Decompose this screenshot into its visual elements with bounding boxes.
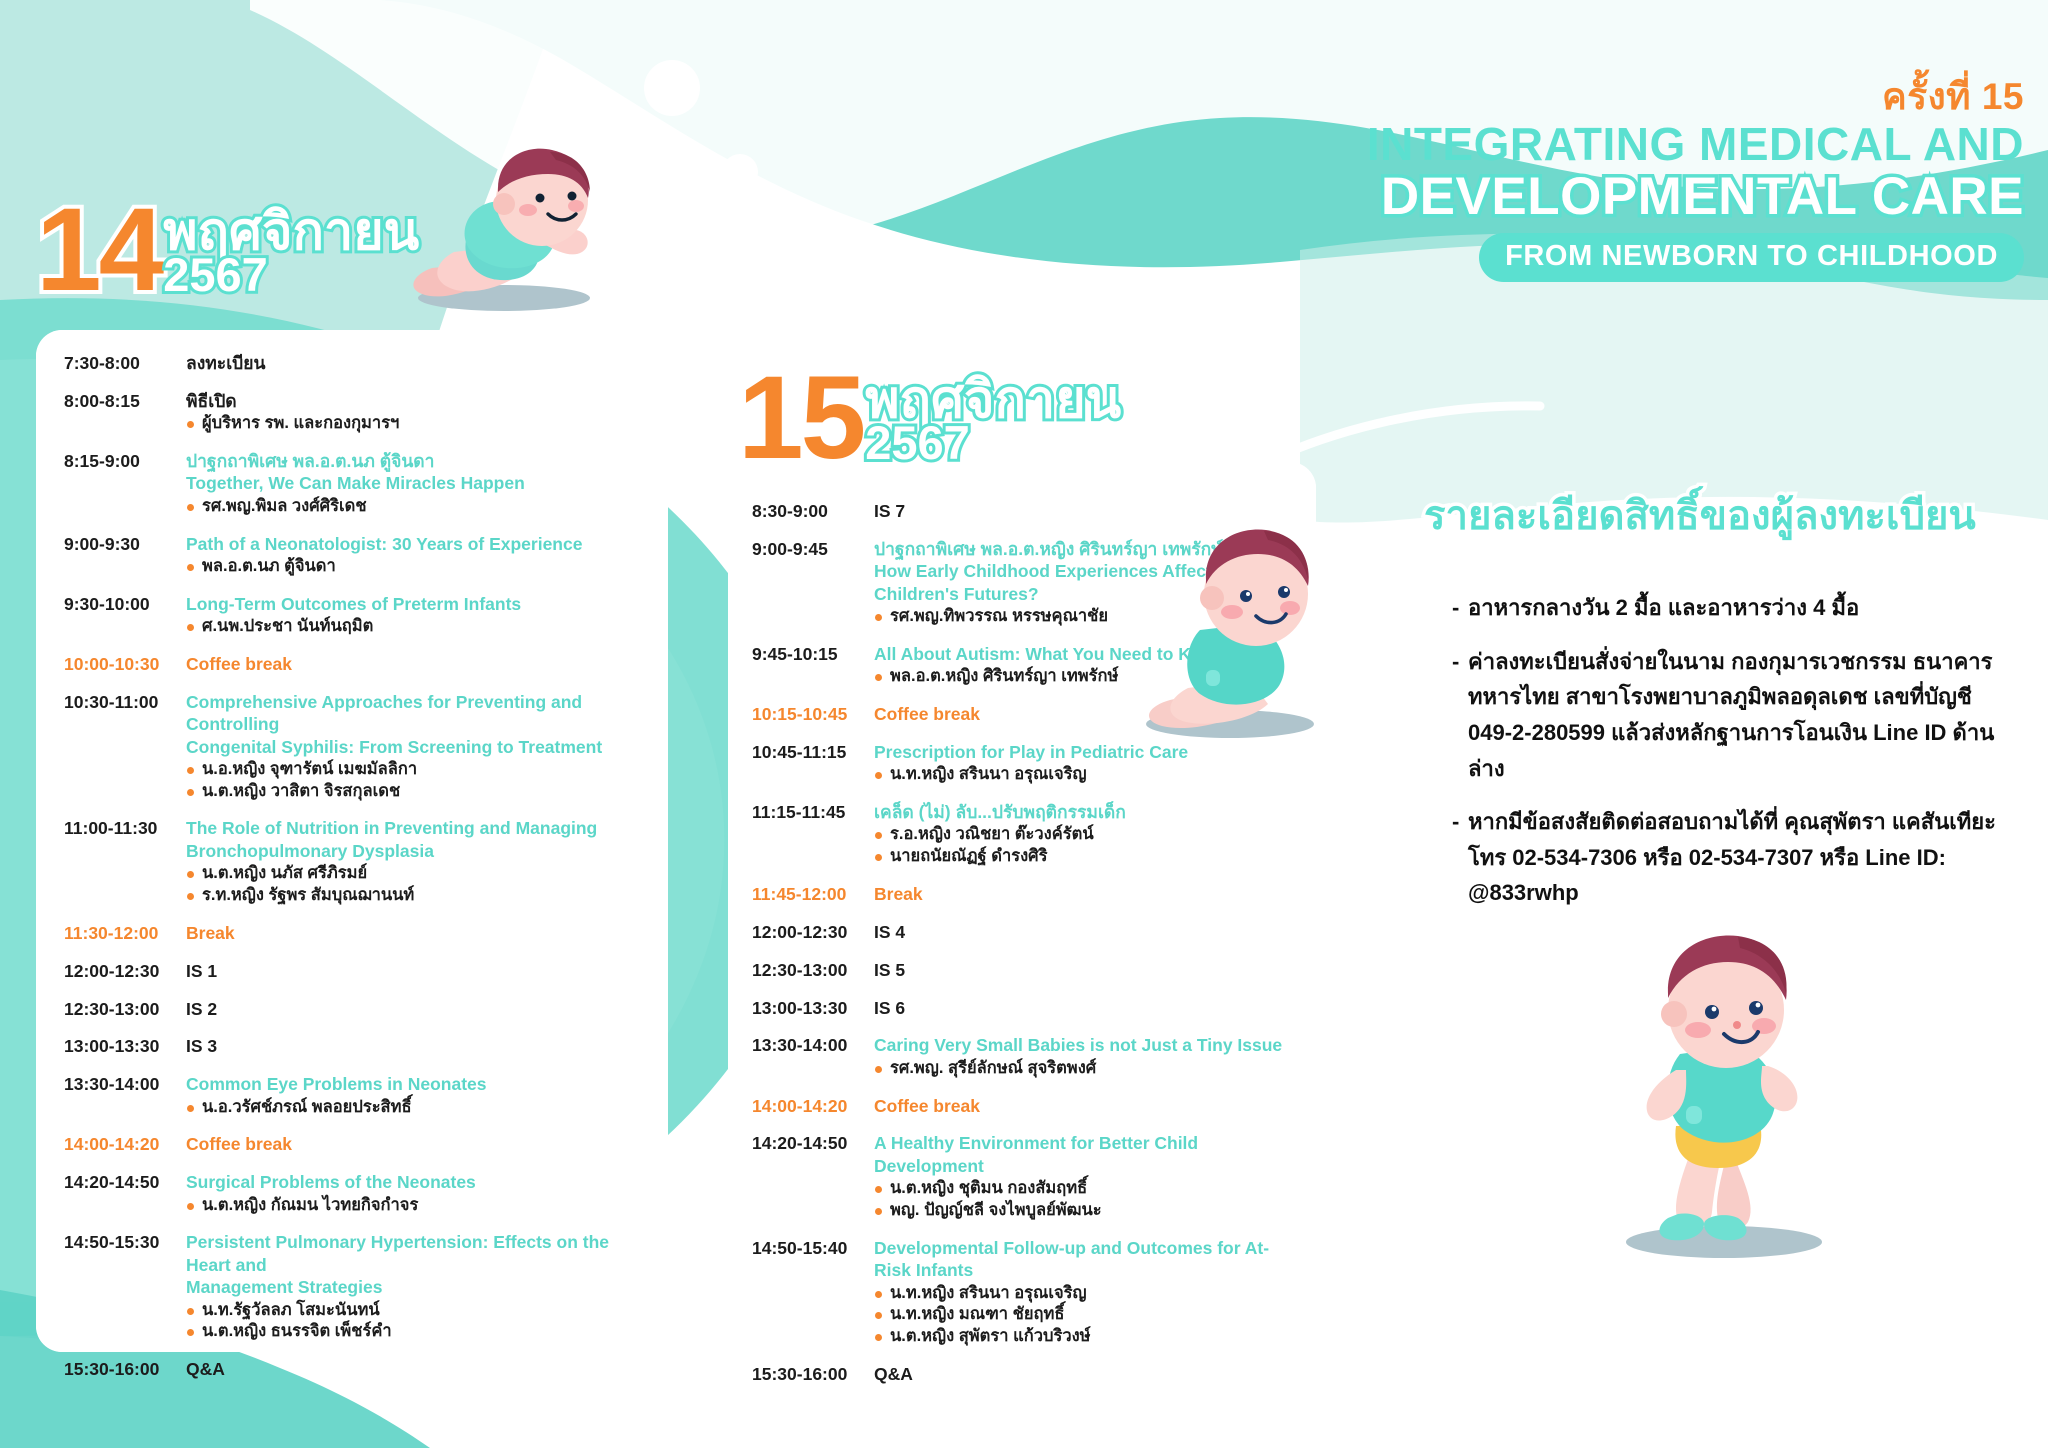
agenda-speaker: นายถนัยณัฏฐ์ ดำรงศิริ: [874, 846, 1292, 868]
agenda-row-body: IS 2: [186, 998, 644, 1021]
agenda-row-body: IS 3: [186, 1035, 644, 1058]
registration-info-item: -ค่าลงทะเบียนสั่งจ่ายในนาม กองกุมารเวชกร…: [1452, 644, 2000, 787]
agenda-row-title: Persistent Pulmonary Hypertension: Effec…: [186, 1231, 644, 1276]
agenda-row: 11:15-11:45เคล็ด (ไม่) ลับ...ปรับพฤติกรร…: [752, 801, 1292, 868]
bullet-dash-icon: -: [1452, 804, 1468, 911]
agenda-speaker: พญ. ปัญญ์ชลี จงไพบูลย์พัฒนะ: [874, 1200, 1292, 1222]
agenda-row: 10:00-10:30Coffee break: [64, 653, 644, 676]
conference-subtitle: FROM NEWBORN TO CHILDHOOD: [1479, 233, 2024, 282]
agenda-row: 14:00-14:20Coffee break: [752, 1095, 1292, 1118]
agenda-row-title: IS 2: [186, 998, 644, 1020]
bullet-dash-icon: -: [1452, 644, 1468, 787]
agenda-row-time: 12:30-13:00: [64, 998, 186, 1021]
agenda-row-body: Q&A: [186, 1358, 644, 1381]
agenda-speaker: ร.อ.หญิง วณิชยา ต๊ะวงค์รัตน์: [874, 824, 1292, 846]
agenda-row: 10:30-11:00Comprehensive Approaches for …: [64, 691, 644, 803]
agenda-speaker: น.ท.หญิง สรินนา อรุณเจริญ: [874, 1283, 1292, 1305]
agenda-row-body: Break: [186, 922, 644, 945]
agenda-row-body: Q&A: [874, 1363, 1292, 1386]
agenda-speaker-list: น.ท.หญิง สรินนา อรุณเจริญ: [874, 764, 1292, 786]
agenda-row-title: Coffee break: [186, 1133, 644, 1155]
agenda-row-title: พิธีเปิด: [186, 390, 644, 412]
agenda-row-time: 10:30-11:00: [64, 691, 186, 803]
agenda-row-time: 7:30-8:00: [64, 352, 186, 375]
agenda-row-time: 9:45-10:15: [752, 643, 874, 688]
agenda-row-title: IS 4: [874, 921, 1292, 943]
agenda-speaker: น.ท.หญิง มณฑา ชัยฤทธิ์: [874, 1304, 1292, 1326]
agenda-row-time: 14:20-14:50: [64, 1171, 186, 1216]
agenda-row-time: 12:30-13:00: [752, 959, 874, 982]
day-15-number: 15: [738, 368, 863, 469]
agenda-speaker: น.ท.หญิง สรินนา อรุณเจริญ: [874, 764, 1292, 786]
agenda-speaker-list: น.ต.หญิง ชุติมน กองสัมฤทธิ์พญ. ปัญญ์ชลี …: [874, 1178, 1292, 1222]
day-15-date-heading: 15 พฤศจิกายน 2567: [738, 368, 1121, 469]
agenda-row: 11:00-11:30The Role of Nutrition in Prev…: [64, 817, 644, 906]
agenda-row-title: Common Eye Problems in Neonates: [186, 1073, 644, 1095]
agenda-row-time: 11:15-11:45: [752, 801, 874, 868]
agenda-row-body: Path of a Neonatologist: 30 Years of Exp…: [186, 533, 644, 578]
agenda-row-body: Caring Very Small Babies is not Just a T…: [874, 1034, 1292, 1079]
agenda-row-body: A Healthy Environment for Better Child D…: [874, 1132, 1292, 1221]
agenda-row: 13:30-14:00Common Eye Problems in Neonat…: [64, 1073, 644, 1118]
agenda-row: 8:15-9:00ปาฐกถาพิเศษ พล.อ.ต.นภ ตู้จินดาT…: [64, 450, 644, 518]
agenda-speaker-list: น.อ.วรัศช์ภรณ์ พลอยประสิทธิ์: [186, 1097, 644, 1119]
agenda-speaker: ศ.นพ.ประชา นันท์นฤมิต: [186, 616, 644, 638]
agenda-row-title: IS 1: [186, 960, 644, 982]
agenda-row-body: Common Eye Problems in Neonatesน.อ.วรัศช…: [186, 1073, 644, 1118]
agenda-row-title: Break: [186, 922, 644, 944]
agenda-speaker-list: รศ.พญ. สุรีย์ลักษณ์ สุจริตพงศ์: [874, 1058, 1292, 1080]
agenda-row-title: Caring Very Small Babies is not Just a T…: [874, 1034, 1292, 1056]
agenda-row-time: 11:00-11:30: [64, 817, 186, 906]
agenda-row-body: IS 1: [186, 960, 644, 983]
agenda-speaker: น.ต.หญิง นภัส ศรีภิรมย์: [186, 863, 644, 885]
agenda-speaker-list: ศ.นพ.ประชา นันท์นฤมิต: [186, 616, 644, 638]
agenda-row: 9:00-9:30Path of a Neonatologist: 30 Yea…: [64, 533, 644, 578]
agenda-row-time: 8:30-9:00: [752, 500, 874, 523]
agenda-speaker-list: น.ต.หญิง นภัส ศรีภิรมย์ร.ท.หญิง รัฐพร สั…: [186, 863, 644, 907]
agenda-row: 12:30-13:00IS 2: [64, 998, 644, 1021]
agenda-speaker: ผู้บริหาร รพ. และกองกุมารฯ: [186, 413, 644, 435]
agenda-row-body: Comprehensive Approaches for Preventing …: [186, 691, 644, 803]
agenda-row-title: Comprehensive Approaches for Preventing …: [186, 691, 644, 736]
agenda-row-body: Persistent Pulmonary Hypertension: Effec…: [186, 1231, 644, 1343]
agenda-row: 15:30-16:00Q&A: [64, 1358, 644, 1381]
agenda-speaker: น.อ.หญิง จุฑารัตน์ เมฆมัลลิกา: [186, 759, 644, 781]
agenda-row-body: IS 6: [874, 997, 1292, 1020]
agenda-speaker: น.อ.วรัศช์ภรณ์ พลอยประสิทธิ์: [186, 1097, 644, 1119]
agenda-row-title: ลงทะเบียน: [186, 352, 644, 374]
agenda-row: 13:00-13:30IS 6: [752, 997, 1292, 1020]
agenda-row-body: Break: [874, 883, 1292, 906]
agenda-row: 14:20-14:50Surgical Problems of the Neon…: [64, 1171, 644, 1216]
registration-info-text: หากมีข้อสงสัยติดต่อสอบถามได้ที่ คุณสุพัต…: [1468, 804, 2000, 911]
agenda-row: 14:00-14:20Coffee break: [64, 1133, 644, 1156]
agenda-row-body: ลงทะเบียน: [186, 352, 644, 375]
agenda-row-time: 14:00-14:20: [64, 1133, 186, 1156]
agenda-row: 14:20-14:50A Healthy Environment for Bet…: [752, 1132, 1292, 1221]
agenda-row-body: พิธีเปิดผู้บริหาร รพ. และกองกุมารฯ: [186, 390, 644, 435]
agenda-speaker: รศ.พญ. สุรีย์ลักษณ์ สุจริตพงศ์: [874, 1058, 1292, 1080]
agenda-speaker: น.ต.หญิง วาสิตา จิรสกุลเดช: [186, 781, 644, 803]
registration-info-item: -อาหารกลางวัน 2 มื้อ และอาหารว่าง 4 มื้อ: [1452, 590, 2000, 626]
agenda-row: 15:30-16:00Q&A: [752, 1363, 1292, 1386]
agenda-row-title: Break: [874, 883, 1292, 905]
agenda-row-body: Coffee break: [186, 653, 644, 676]
agenda-speaker-list: น.อ.หญิง จุฑารัตน์ เมฆมัลลิกาน.ต.หญิง วา…: [186, 759, 644, 803]
agenda-row: 12:30-13:00IS 5: [752, 959, 1292, 982]
agenda-row-title: Coffee break: [874, 1095, 1292, 1117]
agenda-row: 11:45-12:00Break: [752, 883, 1292, 906]
agenda-row-title: Q&A: [186, 1358, 644, 1380]
agenda-row-body: Surgical Problems of the Neonatesน.ต.หญิ…: [186, 1171, 644, 1216]
day-14-date-heading: 14 พฤศจิกายน 2567: [36, 200, 419, 301]
agenda-row-time: 10:15-10:45: [752, 703, 874, 726]
day-14-agenda-list: 7:30-8:00ลงทะเบียน8:00-8:15พิธีเปิดผู้บร…: [64, 352, 644, 1396]
conference-title-line-1: INTEGRATING MEDICAL AND: [1344, 121, 2024, 168]
agenda-speaker: น.ต.หญิง กัณมน ไวทยกิจกำจร: [186, 1195, 644, 1217]
agenda-speaker: รศ.พญ.พิมล วงศ์ศิริเดช: [186, 496, 644, 518]
agenda-row-title: Surgical Problems of the Neonates: [186, 1171, 644, 1193]
agenda-row-body: Prescription for Play in Pediatric Careน…: [874, 741, 1292, 786]
agenda-row: 9:30-10:00Long-Term Outcomes of Preterm …: [64, 593, 644, 638]
agenda-row-body: IS 5: [874, 959, 1292, 982]
agenda-row: 7:30-8:00ลงทะเบียน: [64, 352, 644, 375]
agenda-row-time: 15:30-16:00: [752, 1363, 874, 1386]
agenda-row-body: Developmental Follow-up and Outcomes for…: [874, 1237, 1292, 1348]
agenda-row-title: Q&A: [874, 1363, 1292, 1385]
agenda-speaker-list: น.ท.หญิง สรินนา อรุณเจริญน.ท.หญิง มณฑา ช…: [874, 1283, 1292, 1348]
agenda-speaker: น.ต.หญิง ชุติมน กองสัมฤทธิ์: [874, 1178, 1292, 1200]
agenda-row-body: ปาฐกถาพิเศษ พล.อ.ต.นภ ตู้จินดาTogether, …: [186, 450, 644, 518]
agenda-row: 11:30-12:00Break: [64, 922, 644, 945]
registration-info-text: ค่าลงทะเบียนสั่งจ่ายในนาม กองกุมารเวชกรร…: [1468, 644, 2000, 787]
agenda-row-body: เคล็ด (ไม่) ลับ...ปรับพฤติกรรมเด็กร.อ.หญ…: [874, 801, 1292, 868]
agenda-row-time: 9:00-9:30: [64, 533, 186, 578]
agenda-row-time: 8:00-8:15: [64, 390, 186, 435]
agenda-speaker-list: น.ท.รัฐวัลลภ โสมะนันทน์น.ต.หญิง ธนรรจิต …: [186, 1300, 644, 1344]
agenda-speaker: ร.ท.หญิง รัฐพร สัมบุณฌานนท์: [186, 885, 644, 907]
agenda-speaker: น.ท.รัฐวัลลภ โสมะนันทน์: [186, 1300, 644, 1322]
agenda-row-title: The Role of Nutrition in Preventing and …: [186, 817, 644, 839]
day-14-number: 14: [36, 200, 161, 301]
agenda-row-body: Coffee break: [186, 1133, 644, 1156]
agenda-row-title: Prescription for Play in Pediatric Care: [874, 741, 1292, 763]
agenda-row-title: IS 6: [874, 997, 1292, 1019]
agenda-row: 12:00-12:30IS 1: [64, 960, 644, 983]
agenda-row-title-secondary: Management Strategies: [186, 1276, 644, 1298]
agenda-row-body: Coffee break: [874, 1095, 1292, 1118]
agenda-row-time: 14:50-15:40: [752, 1237, 874, 1348]
agenda-row-body: Long-Term Outcomes of Preterm Infantsศ.น…: [186, 593, 644, 638]
registration-info-list: -อาหารกลางวัน 2 มื้อ และอาหารว่าง 4 มื้อ…: [1452, 590, 2000, 929]
agenda-row-time: 8:15-9:00: [64, 450, 186, 518]
agenda-row: 12:00-12:30IS 4: [752, 921, 1292, 944]
agenda-row: 13:30-14:00Caring Very Small Babies is n…: [752, 1034, 1292, 1079]
agenda-row-time: 9:30-10:00: [64, 593, 186, 638]
agenda-row-title: เคล็ด (ไม่) ลับ...ปรับพฤติกรรมเด็ก: [874, 801, 1292, 823]
agenda-speaker-list: พล.อ.ต.นภ ตู้จินดา: [186, 556, 644, 578]
crawling-baby-illustration: [392, 148, 612, 313]
registration-info-heading: รายละเอียดสิทธิ์ของผู้ลงทะเบียน: [1424, 495, 2024, 537]
agenda-speaker-list: ร.อ.หญิง วณิชยา ต๊ะวงค์รัตน์นายถนัยณัฏฐ์…: [874, 824, 1292, 868]
issue-number: ครั้งที่ 15: [1344, 78, 2024, 115]
agenda-row-title: ปาฐกถาพิเศษ พล.อ.ต.นภ ตู้จินดา: [186, 450, 644, 472]
agenda-row-title: Path of a Neonatologist: 30 Years of Exp…: [186, 533, 644, 555]
agenda-row-title: Coffee break: [186, 653, 644, 675]
agenda-row: 14:50-15:30Persistent Pulmonary Hyperten…: [64, 1231, 644, 1343]
registration-info-text: อาหารกลางวัน 2 มื้อ และอาหารว่าง 4 มื้อ: [1468, 590, 2000, 626]
agenda-row-time: 13:30-14:00: [752, 1034, 874, 1079]
agenda-row-time: 14:20-14:50: [752, 1132, 874, 1221]
agenda-row-time: 13:00-13:30: [752, 997, 874, 1020]
agenda-row: 10:45-11:15Prescription for Play in Pedi…: [752, 741, 1292, 786]
agenda-row-time: 14:00-14:20: [752, 1095, 874, 1118]
agenda-row-time: 14:50-15:30: [64, 1231, 186, 1343]
agenda-row-time: 13:00-13:30: [64, 1035, 186, 1058]
agenda-speaker: น.ต.หญิง สุพัตรา แก้วบริวงษ์: [874, 1326, 1292, 1348]
agenda-speaker-list: ผู้บริหาร รพ. และกองกุมารฯ: [186, 413, 644, 435]
agenda-row-time: 15:30-16:00: [64, 1358, 186, 1381]
agenda-row-time: 13:30-14:00: [64, 1073, 186, 1118]
agenda-row-title: IS 5: [874, 959, 1292, 981]
registration-info-item: -หากมีข้อสงสัยติดต่อสอบถามได้ที่ คุณสุพั…: [1452, 804, 2000, 911]
agenda-row-title: Developmental Follow-up and Outcomes for…: [874, 1237, 1292, 1282]
agenda-row: 13:00-13:30IS 3: [64, 1035, 644, 1058]
poster-header: ครั้งที่ 15 INTEGRATING MEDICAL AND DEVE…: [1344, 78, 2024, 282]
agenda-row-time: 9:00-9:45: [752, 538, 874, 628]
agenda-row-title: IS 3: [186, 1035, 644, 1057]
agenda-speaker: พล.อ.ต.นภ ตู้จินดา: [186, 556, 644, 578]
agenda-row-body: IS 4: [874, 921, 1292, 944]
conference-title-line-2: DEVELOPMENTAL CARE: [1344, 170, 2024, 224]
agenda-speaker: น.ต.หญิง ธนรรจิต เพ็ชร์คำ: [186, 1321, 644, 1343]
agenda-row-time: 10:00-10:30: [64, 653, 186, 676]
agenda-row-body: The Role of Nutrition in Preventing and …: [186, 817, 644, 906]
walking-toddler-illustration: [1598, 930, 1848, 1260]
agenda-row-title: A Healthy Environment for Better Child D…: [874, 1132, 1292, 1177]
pointing-toddler-illustration: [1128, 520, 1328, 740]
agenda-row-time: 12:00-12:30: [64, 960, 186, 983]
agenda-row-time: 11:30-12:00: [64, 922, 186, 945]
agenda-row: 14:50-15:40Developmental Follow-up and O…: [752, 1237, 1292, 1348]
agenda-row-title-secondary: Congenital Syphilis: From Screening to T…: [186, 736, 644, 758]
agenda-row-time: 10:45-11:15: [752, 741, 874, 786]
agenda-row-time: 11:45-12:00: [752, 883, 874, 906]
agenda-row-title: Long-Term Outcomes of Preterm Infants: [186, 593, 644, 615]
agenda-row-title-secondary: Bronchopulmonary Dysplasia: [186, 840, 644, 862]
agenda-row-title-secondary: Together, We Can Make Miracles Happen: [186, 472, 644, 494]
agenda-row-time: 12:00-12:30: [752, 921, 874, 944]
agenda-speaker-list: น.ต.หญิง กัณมน ไวทยกิจกำจร: [186, 1195, 644, 1217]
bullet-dash-icon: -: [1452, 590, 1468, 626]
agenda-row: 8:00-8:15พิธีเปิดผู้บริหาร รพ. และกองกุม…: [64, 390, 644, 435]
agenda-speaker-list: รศ.พญ.พิมล วงศ์ศิริเดช: [186, 496, 644, 518]
